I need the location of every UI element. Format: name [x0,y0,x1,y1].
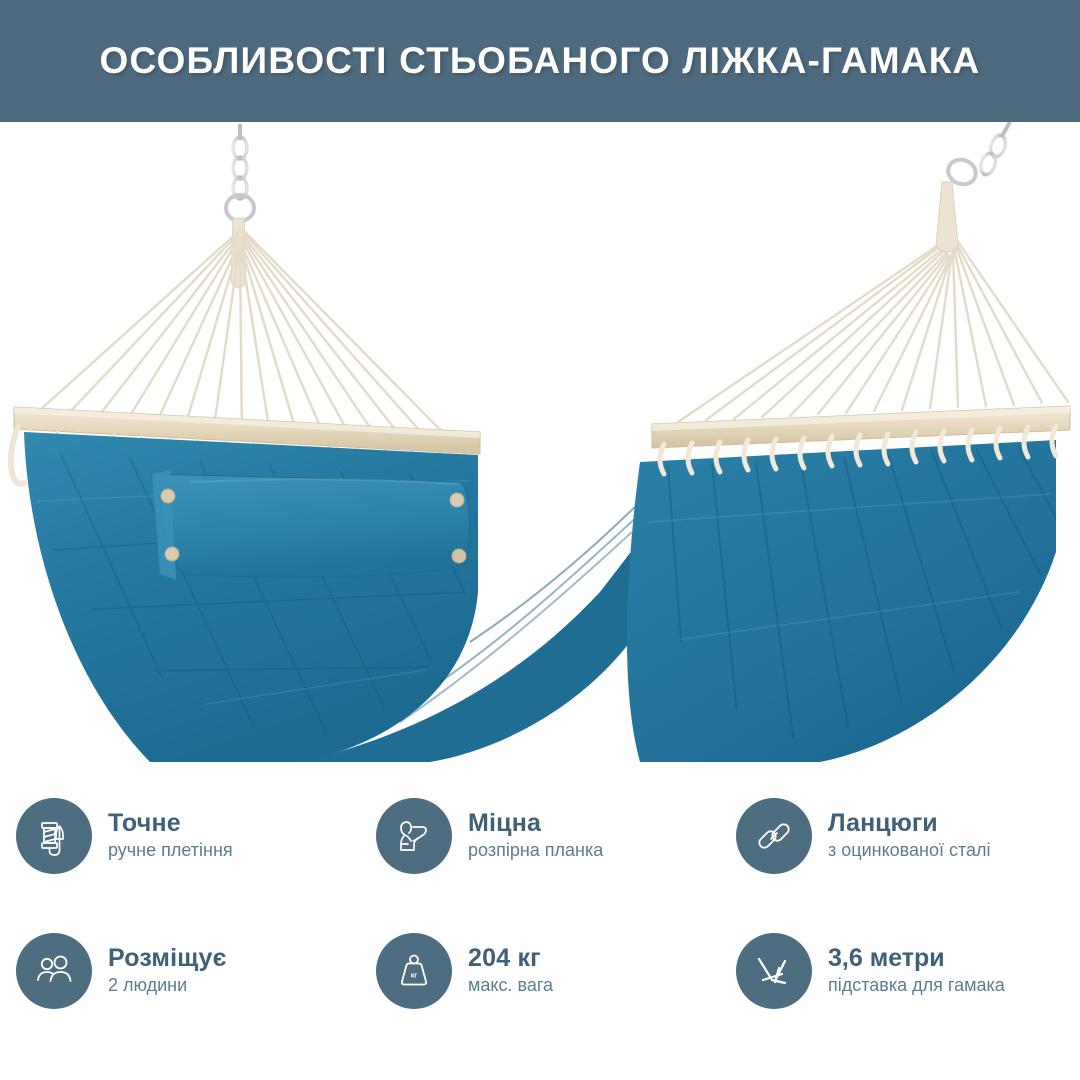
feature-item-precise-weaving: Точне ручне плетіння [0,768,360,903]
feature-title: Міцна [468,809,603,837]
feature-subtitle: 2 людини [108,975,227,997]
feature-title: Ланцюги [828,809,991,837]
hammock-stand-icon [736,933,812,1009]
feature-item-stand-length: 3,6 метри підставка для гамака [720,903,1080,1038]
feature-text: Точне ручне плетіння [108,809,233,862]
header-bar: ОСОБЛИВОСТІ СТЬОБАНОГО ЛІЖКА-ГАМАКА [0,0,1080,122]
feature-text: 3,6 метри підставка для гамака [828,944,1005,997]
flexed-bicep-icon [376,798,452,874]
feature-text: Розміщує 2 людини [108,944,227,997]
pillow-button [452,549,466,563]
two-people-icon [16,933,92,1009]
pillow-button [165,547,179,561]
thread-spool-needle-icon [16,798,92,874]
feature-title: 3,6 метри [828,944,1005,972]
svg-text:кг: кг [411,972,418,979]
pillow-button [161,489,175,503]
feature-subtitle: підставка для гамака [828,975,1005,997]
feature-item-galvanized-chains: Ланцюги з оцинкованої сталі [720,768,1080,903]
feature-title: Розміщує [108,944,227,972]
pillow-button [450,493,464,507]
pillow [152,470,469,580]
feature-subtitle: з оцинкованої сталі [828,840,991,862]
chain-links-icon [736,798,812,874]
product-feature-infographic: ОСОБЛИВОСТІ СТЬОБАНОГО ЛІЖКА-ГАМАКА [0,0,1080,1080]
feature-grid: Точне ручне плетіння Міцна розпірна план… [0,768,1080,1058]
feature-title: Точне [108,809,233,837]
feature-item-max-weight: кг 204 кг макс. вага [360,903,720,1038]
feature-item-capacity: Розміщує 2 людини [0,903,360,1038]
feature-text: Міцна розпірна планка [468,809,603,862]
hammock-illustration [0,122,1080,762]
feature-subtitle: ручне плетіння [108,840,233,862]
feature-title: 204 кг [468,944,553,972]
feature-subtitle: розпірна планка [468,840,603,862]
page-title: ОСОБЛИВОСТІ СТЬОБАНОГО ЛІЖКА-ГАМАКА [100,40,981,82]
feature-text: Ланцюги з оцинкованої сталі [828,809,991,862]
hero-product-image [0,122,1080,762]
feature-text: 204 кг макс. вага [468,944,553,997]
feature-subtitle: макс. вага [468,975,553,997]
weight-kg-icon: кг [376,933,452,1009]
feature-item-strong-spreader-bar: Міцна розпірна планка [360,768,720,903]
